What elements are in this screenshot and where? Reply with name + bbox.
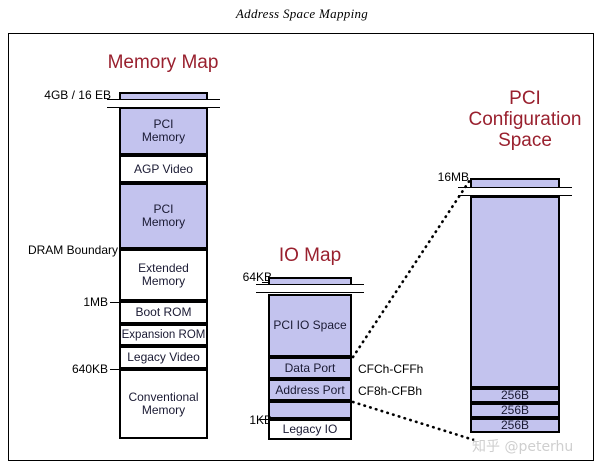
- pci-config-device-label: 256B: [501, 389, 529, 402]
- io-segment-label: PCI IO Space: [273, 319, 346, 332]
- watermark: 知乎 @peterhu: [472, 436, 573, 456]
- memory-segment-boot-rom: Boot ROM: [119, 301, 208, 324]
- io-map-bottom-label: 1KB: [222, 413, 272, 427]
- memory-segment-pci-memory-upper: PCIMemory: [119, 107, 208, 155]
- io-data-port-range: CFCh-CFFh: [358, 362, 423, 376]
- memory-segment-label: PCIMemory: [142, 203, 185, 229]
- memory-segment-label: Legacy Video: [127, 351, 200, 364]
- io-segment-reserved: [268, 401, 352, 419]
- pci-config-title-line-2: Configuration: [455, 109, 595, 130]
- memory-segment-label: Boot ROM: [135, 306, 191, 319]
- memory-segment-label: AGP Video: [134, 163, 193, 176]
- io-map-title: IO Map: [250, 245, 370, 266]
- pci-config-device-label: 256B: [501, 404, 529, 417]
- io-address-port-range: CF8h-CFBh: [358, 384, 422, 398]
- pci-config-title: PCI Configuration Space: [455, 88, 595, 151]
- memory-map-title: Memory Map: [88, 52, 238, 73]
- pci-config-device-block: 256B: [470, 418, 560, 433]
- memory-segment-label: Expansion ROM: [122, 329, 206, 342]
- memory-segment-extended-memory: ExtendedMemory: [119, 249, 208, 301]
- memory-segment-label: ConventionalMemory: [128, 391, 198, 417]
- io-segment-address-port: Address Port: [268, 379, 352, 401]
- memory-segment-label: ExtendedMemory: [138, 262, 189, 288]
- memory-segment-conventional-memory: ConventionalMemory: [119, 369, 208, 439]
- io-segment-data-port: Data Port: [268, 357, 352, 379]
- page-title: Address Space Mapping: [0, 6, 604, 22]
- memory-boundary-640kb: 640KB: [38, 362, 108, 376]
- pci-config-top-label: 16MB: [424, 170, 469, 184]
- memory-segment-legacy-video: Legacy Video: [119, 346, 208, 369]
- memory-segment-agp-video: AGP Video: [119, 155, 208, 183]
- pci-config-title-line-1: PCI: [455, 88, 595, 109]
- io-segment-legacy-io: Legacy IO: [268, 419, 352, 440]
- memory-segment-pci-memory-lower: PCIMemory: [119, 183, 208, 249]
- pci-config-space-body: [470, 196, 560, 388]
- memory-boundary-1mb: 1MB: [46, 295, 108, 309]
- pci-config-device-block: 256B: [470, 403, 560, 418]
- io-map-break: [256, 284, 364, 293]
- io-segment-label: Data Port: [285, 362, 336, 375]
- memory-segment-label: PCIMemory: [142, 118, 185, 144]
- pci-config-device-label: 256B: [501, 419, 529, 432]
- memory-boundary-dram: DRAM Boundary: [18, 243, 118, 257]
- pci-config-break: [458, 187, 572, 196]
- memory-segment-expansion-rom: Expansion ROM: [119, 324, 208, 346]
- io-segment-label: Legacy IO: [283, 423, 338, 436]
- pci-config-title-line-3: Space: [455, 130, 595, 151]
- pci-config-device-block: 256B: [470, 388, 560, 403]
- io-segment-pci-io-space: PCI IO Space: [268, 294, 352, 357]
- io-segment-label: Address Port: [275, 384, 344, 397]
- memory-map-top-label: 4GB / 16 EB: [26, 88, 111, 102]
